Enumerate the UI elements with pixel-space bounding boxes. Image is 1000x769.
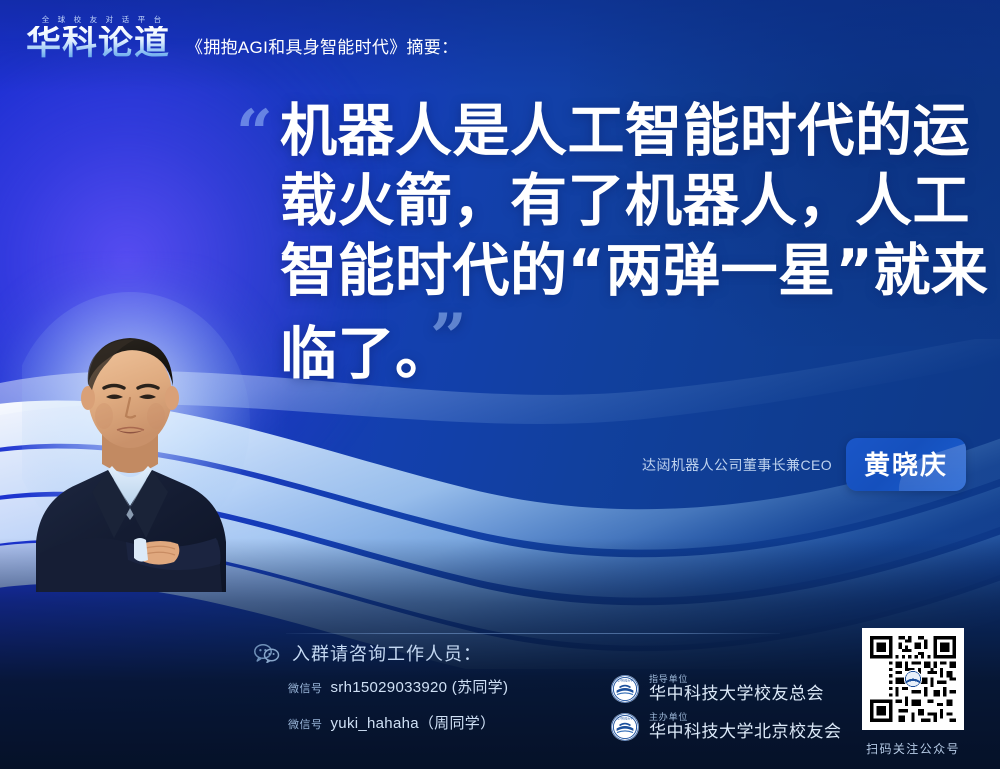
hust-alumni-emblem-icon: 华中科技大学: [610, 674, 640, 704]
hust-beijing-alumni-emblem-icon: 华中科技大学: [610, 712, 640, 742]
quote-block: “ 机器人是人工智能时代的运 载火箭，有了机器人，人工 智能时代的“两弹一星”就…: [236, 96, 966, 389]
svg-text:华中科技大学: 华中科技大学: [617, 678, 633, 682]
organization-list: 华中科技大学 指导单位 华中科技大学校友总会 华: [610, 674, 842, 742]
qr-block: 扫码关注公众号: [848, 628, 978, 757]
speaker-portrait: [22, 292, 254, 592]
organization-row: 华中科技大学 指导单位 华中科技大学校友总会: [610, 674, 842, 704]
quote-close-mark: ”: [430, 300, 467, 375]
organization-text: 指导单位 华中科技大学校友总会: [649, 674, 824, 704]
qr-caption: 扫码关注公众号: [866, 740, 960, 757]
logo-wordmark: 华科论道: [26, 26, 170, 63]
quote-line-last: 临了。”: [280, 306, 467, 389]
contact-row: 微信号 srh15029033920 (苏同学): [288, 676, 588, 697]
organization-row: 华中科技大学 主办单位 华中科技大学北京校友会: [610, 712, 842, 742]
poster: 全 球 校 友 对 话 平 台 华科论道 《拥抱AGI和具身智能时代》摘要： “…: [0, 0, 1000, 769]
organization-kind: 指导单位: [649, 674, 824, 684]
wechat-icon: [254, 643, 280, 663]
quote-open-mark: “: [236, 102, 273, 166]
footer-divider: [286, 633, 780, 634]
quote-line: 机器人是人工智能时代的运: [280, 96, 966, 166]
svg-text:华中科技大学: 华中科技大学: [617, 716, 633, 720]
organization-kind: 主办单位: [649, 712, 842, 722]
contact-label: 微信号: [288, 680, 323, 696]
brand-logo: 全 球 校 友 对 话 平 台 华科论道: [26, 14, 170, 63]
quote-line: 载火箭，有了机器人，人工: [280, 166, 966, 236]
quote-line-text: 临了。: [280, 321, 424, 387]
poster-header: 全 球 校 友 对 话 平 台 华科论道 《拥抱AGI和具身智能时代》摘要：: [26, 14, 458, 63]
contact-row: 微信号 yuki_hahaha（周同学）: [288, 712, 588, 733]
organization-name: 华中科技大学北京校友会: [649, 722, 842, 742]
organization-name: 华中科技大学校友总会: [649, 684, 824, 704]
speaker-name-badge: 黄晓庆: [846, 438, 966, 491]
contact-list: 微信号 srh15029033920 (苏同学) 微信号 yuki_hahaha…: [254, 674, 588, 733]
header-subtitle: 《拥抱AGI和具身智能时代》摘要：: [186, 33, 458, 63]
speaker-attribution: 达闼机器人公司董事长兼CEO 黄晓庆: [642, 438, 966, 491]
footer-title: 入群请咨询工作人员：: [292, 640, 482, 666]
logo-tagline: 全 球 校 友 对 话 平 台: [42, 14, 165, 25]
speaker-name: 黄晓庆: [864, 445, 948, 482]
speaker-role: 达闼机器人公司董事长兼CEO: [642, 455, 832, 475]
qr-code-svg: [867, 633, 959, 725]
contact-value[interactable]: srh15029033920 (苏同学): [331, 676, 509, 697]
contact-label: 微信号: [288, 716, 323, 732]
qr-code-image[interactable]: [862, 628, 964, 730]
quote-line: 智能时代的“两弹一星”就来: [280, 236, 966, 306]
organization-text: 主办单位 华中科技大学北京校友会: [649, 712, 842, 742]
contact-value[interactable]: yuki_hahaha（周同学）: [331, 712, 496, 733]
quote-lines: 机器人是人工智能时代的运 载火箭，有了机器人，人工 智能时代的“两弹一星”就来 …: [280, 96, 966, 389]
